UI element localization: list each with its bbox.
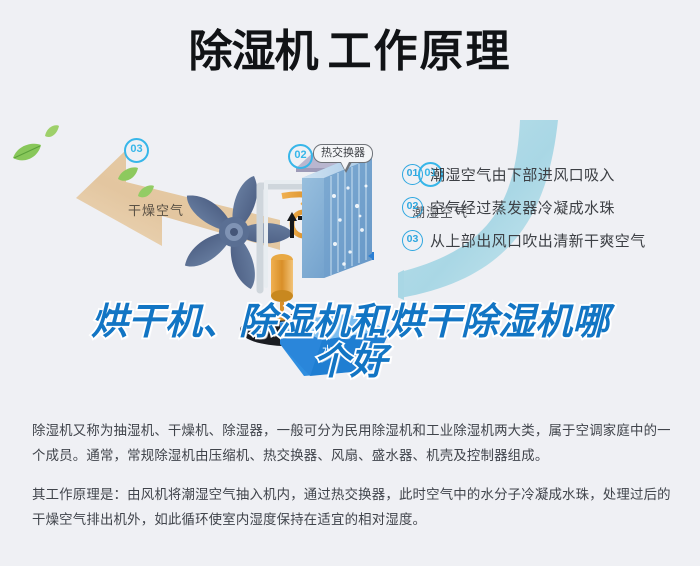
legend-item: 01 潮湿空气由下部进风口吸入 [402,158,692,191]
article-body: 除湿机又称为抽湿机、干燥机、除湿器，一般可分为民用除湿机和工业除湿机两大类，属于… [32,418,672,532]
leaf-icon [44,124,60,139]
water-tank-label: 水箱 [322,342,346,358]
legend-text-03: 从上部出风口吹出清新干爽空气 [430,230,646,251]
legend-badge-03: 03 [402,230,423,251]
leaf-icon [12,142,42,164]
evaporator-fin-block [300,156,374,282]
article-paragraph-2: 其工作原理是：由风机将潮湿空气抽入机内，通过热交换器，此时空气中的水分子冷凝成水… [32,482,672,532]
scene-badge-02: 02 [288,144,313,169]
legend-item: 02 空气经过蒸发器冷凝成水珠 [402,191,692,224]
figure-title: 除湿机工作原理 [0,28,700,76]
figure-title-part2: 工作原理 [328,27,512,76]
steps-legend: 01 潮湿空气由下部进风口吸入 02 空气经过蒸发器冷凝成水珠 03 从上部出风… [402,158,692,257]
leaf-icon [117,166,139,184]
leaf-icon [137,184,155,200]
article-paragraph-1: 除湿机又称为抽湿机、干燥机、除湿器，一般可分为民用除湿机和工业除湿机两大类，属于… [32,418,672,468]
legend-text-01: 潮湿空气由下部进风口吸入 [430,164,615,185]
legend-badge-01: 01 [402,164,423,185]
heat-exchanger-callout: 热交换器 [313,144,373,163]
scene-badge-03: 03 [124,138,149,163]
dry-air-label: 干燥空气 [128,200,184,219]
legend-text-02: 空气经过蒸发器冷凝成水珠 [430,197,615,218]
legend-badge-02: 02 [402,197,423,218]
figure-title-part1: 除湿机 [189,27,318,76]
page-root: 除湿机工作原理 [0,0,700,566]
legend-item: 03 从上部出风口吹出清新干爽空气 [402,224,692,257]
dehumidifier-principle-infographic: 除湿机工作原理 [0,0,700,400]
